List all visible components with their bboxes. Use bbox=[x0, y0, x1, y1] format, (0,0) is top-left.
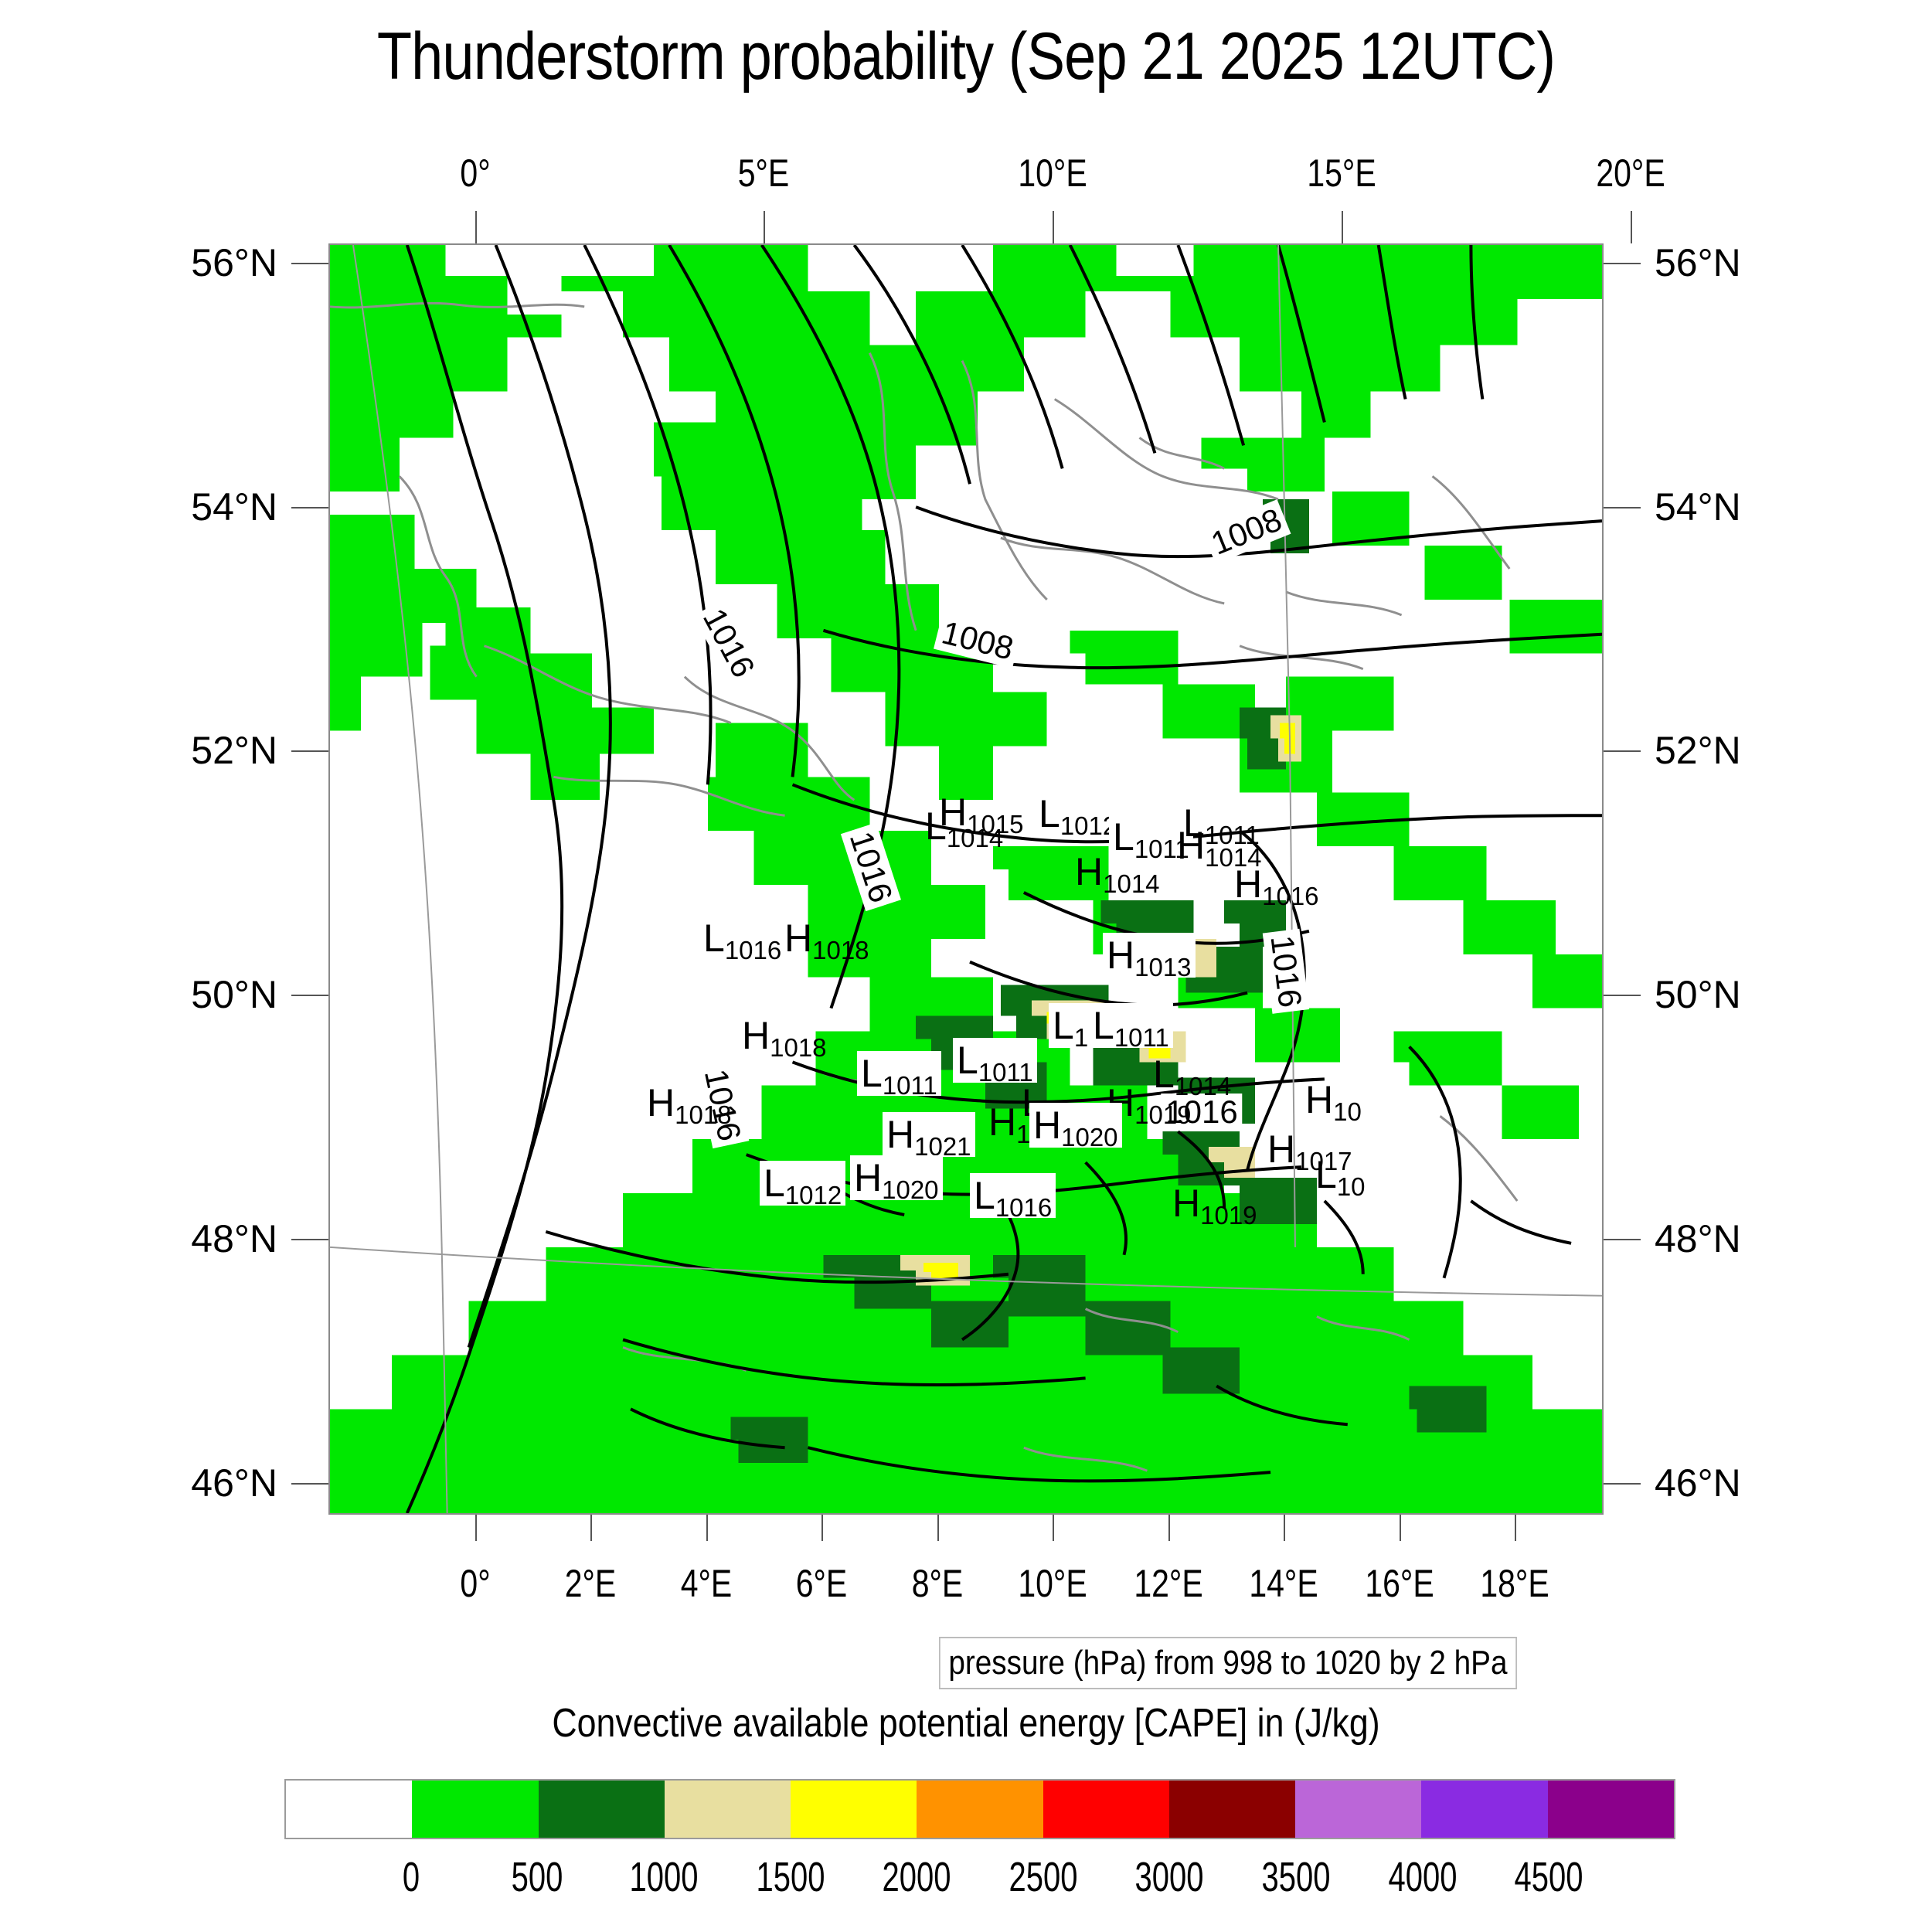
pressure-centre-value: 1020 bbox=[1061, 1123, 1117, 1151]
pressure-centre-value: 1020 bbox=[882, 1175, 938, 1204]
map-plot-area[interactable]: 1016 1008 1008 1016 1016 1016 1016 L1014… bbox=[328, 243, 1604, 1515]
pressure-centre-type: H bbox=[784, 917, 812, 960]
colorbar-segment-5[interactable] bbox=[917, 1781, 1043, 1838]
pressure-centre-l-1012: L1012 bbox=[1035, 791, 1121, 836]
axis-tick-right-4 bbox=[1604, 1239, 1641, 1240]
colorbar-segment-10[interactable] bbox=[1548, 1781, 1674, 1838]
axis-tick-bottom-0 bbox=[475, 1515, 477, 1541]
pressure-centre-l-10: L10 bbox=[1315, 1155, 1366, 1194]
pressure-centre-value: 1011 bbox=[883, 1071, 937, 1100]
pressure-centre-h-1015: H1015 bbox=[939, 793, 1024, 832]
axis-tick-bottom-4 bbox=[937, 1515, 939, 1541]
axis-tick-bottom-7 bbox=[1284, 1515, 1285, 1541]
pressure-centre-type: L bbox=[1093, 1004, 1114, 1047]
pressure-centre-h-10: H10 bbox=[1305, 1080, 1362, 1119]
pressure-centre-type: L bbox=[1315, 1153, 1337, 1196]
axis-label-top-1: 5°E bbox=[738, 151, 790, 196]
axis-label-left-0: 56°N bbox=[191, 240, 277, 285]
axis-tick-top-0 bbox=[475, 211, 477, 243]
axis-label-right-3: 50°N bbox=[1655, 972, 1741, 1017]
pressure-centre-value: 1015 bbox=[967, 810, 1023, 838]
pressure-centre-type: H bbox=[1033, 1104, 1061, 1147]
axis-tick-right-0 bbox=[1604, 263, 1641, 264]
colorbar-tick-4500: 4500 bbox=[1515, 1853, 1583, 1901]
colorbar-segment-3[interactable] bbox=[665, 1781, 791, 1838]
pressure-centre-value: 1012 bbox=[785, 1181, 842, 1209]
pressure-centre-type: H bbox=[1107, 934, 1134, 977]
axis-label-bottom-0: 0° bbox=[460, 1561, 490, 1606]
pressure-centre-h-1021: H1021 bbox=[883, 1112, 975, 1157]
pressure-centre-l-1011: L1011 bbox=[857, 1051, 941, 1096]
cape-colorbar[interactable] bbox=[284, 1779, 1675, 1839]
axis-label-bottom-2: 4°E bbox=[680, 1561, 732, 1606]
pressure-centre-l-1016: L1016 bbox=[699, 916, 785, 961]
axis-label-right-0: 56°N bbox=[1655, 240, 1741, 285]
pressure-centre-type: H bbox=[1305, 1078, 1333, 1121]
axis-label-bottom-1: 2°E bbox=[565, 1561, 617, 1606]
pressure-centre-value: 1018 bbox=[675, 1100, 731, 1129]
axis-label-left-5: 46°N bbox=[191, 1461, 277, 1505]
axis-tick-bottom-2 bbox=[706, 1515, 708, 1541]
pressure-centre-h-1018: H1018 bbox=[742, 1016, 827, 1055]
pressure-centre-type: L bbox=[764, 1162, 785, 1205]
pressure-centre-h-1013: H1013 bbox=[1103, 933, 1196, 978]
colorbar-segment-0[interactable] bbox=[286, 1781, 412, 1838]
axis-tick-bottom-6 bbox=[1168, 1515, 1170, 1541]
axis-label-left-2: 52°N bbox=[191, 728, 277, 773]
isobar-contours bbox=[330, 245, 1602, 1513]
pressure-centre-h-1014: H1014 bbox=[1075, 852, 1160, 891]
pressure-centre-type: H bbox=[742, 1014, 770, 1057]
colorbar-tick-2000: 2000 bbox=[883, 1853, 951, 1901]
colorbar-segment-7[interactable] bbox=[1169, 1781, 1295, 1838]
axis-tick-left-4 bbox=[291, 1239, 328, 1240]
colorbar-tick-1500: 1500 bbox=[756, 1853, 825, 1901]
pressure-centre-h-1018: H1018 bbox=[647, 1083, 732, 1122]
pressure-centre-h-1020: H1020 bbox=[850, 1155, 943, 1200]
pressure-caption: pressure (hPa) from 998 to 1020 by 2 hPa bbox=[939, 1637, 1517, 1689]
pressure-centre-h-1019: H1019 bbox=[1172, 1184, 1257, 1223]
axis-label-bottom-5: 10°E bbox=[1019, 1561, 1087, 1606]
pressure-centre-type: H bbox=[854, 1156, 882, 1199]
pressure-centre-type: H bbox=[1267, 1128, 1295, 1171]
axis-label-right-5: 46°N bbox=[1655, 1461, 1741, 1505]
pressure-centre-value: 1014 bbox=[1103, 869, 1159, 898]
pressure-centre-type: L bbox=[1053, 1004, 1074, 1047]
axis-tick-bottom-3 bbox=[821, 1515, 823, 1541]
pressure-centre-h-1014: H1014 bbox=[1177, 826, 1262, 865]
axis-tick-left-3 bbox=[291, 995, 328, 996]
pressure-centre-type: H bbox=[939, 791, 967, 834]
axis-tick-bottom-9 bbox=[1515, 1515, 1516, 1541]
axis-label-left-1: 54°N bbox=[191, 485, 277, 529]
pressure-centre-value: 1016 bbox=[725, 936, 781, 964]
pressure-centre-type: L bbox=[974, 1174, 995, 1217]
pressure-centre-l-1016: L1016 bbox=[970, 1173, 1056, 1218]
pressure-centre-type: L bbox=[703, 917, 725, 960]
pressure-centre-l-1011: L1011 bbox=[953, 1038, 1037, 1083]
axis-tick-left-0 bbox=[291, 263, 328, 264]
colorbar-segment-8[interactable] bbox=[1295, 1781, 1421, 1838]
axis-label-left-3: 50°N bbox=[191, 972, 277, 1017]
axis-label-top-3: 15°E bbox=[1307, 151, 1376, 196]
colorbar-tick-4000: 4000 bbox=[1388, 1853, 1457, 1901]
colorbar-title: Convective available potential energy [C… bbox=[135, 1700, 1797, 1747]
pressure-centre-type: H bbox=[886, 1113, 914, 1156]
colorbar-tick-3000: 3000 bbox=[1135, 1853, 1204, 1901]
colorbar-tick-0: 0 bbox=[403, 1853, 420, 1901]
axis-tick-top-4 bbox=[1631, 211, 1632, 243]
axis-label-bottom-6: 12°E bbox=[1134, 1561, 1202, 1606]
pressure-centre-type: L bbox=[957, 1039, 978, 1082]
axis-label-top-0: 0° bbox=[460, 151, 490, 196]
axis-tick-top-1 bbox=[764, 211, 765, 243]
pressure-centre-l-1011: L1011 bbox=[1089, 1003, 1173, 1048]
pressure-centre-h-1020: H1020 bbox=[1029, 1103, 1122, 1148]
axis-tick-top-3 bbox=[1342, 211, 1343, 243]
pressure-centre-type: H bbox=[647, 1081, 675, 1124]
axis-label-bottom-7: 14°E bbox=[1249, 1561, 1318, 1606]
pressure-centre-h-1018: H1018 bbox=[784, 919, 869, 957]
axis-label-right-1: 54°N bbox=[1655, 485, 1741, 529]
axis-tick-right-2 bbox=[1604, 750, 1641, 752]
pressure-centre-value: 1018 bbox=[812, 936, 869, 964]
colorbar-tick-2500: 2500 bbox=[1009, 1853, 1077, 1901]
pressure-centre-l-1012: L1012 bbox=[760, 1161, 845, 1206]
pressure-centre-value: 1013 bbox=[1134, 953, 1191, 981]
page-title: Thunderstorm probability (Sep 21 2025 12… bbox=[135, 19, 1797, 95]
colorbar-tick-500: 500 bbox=[512, 1853, 563, 1901]
axis-tick-bottom-1 bbox=[590, 1515, 592, 1541]
pressure-centre-type: H bbox=[1177, 824, 1205, 867]
axis-tick-left-5 bbox=[291, 1483, 328, 1485]
pressure-centre-type: H bbox=[1075, 850, 1103, 893]
colorbar-segment-1[interactable] bbox=[412, 1781, 538, 1838]
axis-label-right-4: 48°N bbox=[1655, 1216, 1741, 1261]
pressure-centre-type: L bbox=[1039, 792, 1060, 835]
colorbar-tick-1000: 1000 bbox=[629, 1853, 698, 1901]
colorbar-segment-4[interactable] bbox=[791, 1781, 917, 1838]
axis-label-top-2: 10°E bbox=[1019, 151, 1087, 196]
axis-tick-right-1 bbox=[1604, 507, 1641, 509]
pressure-centre-type: H bbox=[988, 1100, 1016, 1144]
pressure-centre-value: 1019 bbox=[1200, 1201, 1257, 1230]
axis-label-bottom-4: 8°E bbox=[911, 1561, 963, 1606]
axis-tick-left-1 bbox=[291, 507, 328, 509]
pressure-centre-value: 10 bbox=[1337, 1172, 1366, 1201]
axis-tick-bottom-5 bbox=[1053, 1515, 1054, 1541]
axis-label-bottom-3: 6°E bbox=[796, 1561, 848, 1606]
axis-label-top-4: 20°E bbox=[1596, 151, 1665, 196]
pressure-centre-value: 1016 bbox=[995, 1193, 1052, 1222]
pressure-centre-value: 10 bbox=[1333, 1097, 1362, 1126]
axis-label-right-2: 52°N bbox=[1655, 728, 1741, 773]
colorbar-segment-6[interactable] bbox=[1043, 1781, 1169, 1838]
colorbar-segment-2[interactable] bbox=[539, 1781, 665, 1838]
axis-tick-top-2 bbox=[1053, 211, 1054, 243]
axis-tick-right-5 bbox=[1604, 1483, 1641, 1485]
colorbar-tick-3500: 3500 bbox=[1262, 1853, 1331, 1901]
axis-label-left-4: 48°N bbox=[191, 1216, 277, 1261]
colorbar-segment-9[interactable] bbox=[1421, 1781, 1547, 1838]
axis-label-bottom-8: 16°E bbox=[1365, 1561, 1434, 1606]
axis-tick-bottom-8 bbox=[1400, 1515, 1401, 1541]
pressure-centre-type: H bbox=[1172, 1182, 1200, 1225]
pressure-centre-value: 1011 bbox=[1114, 1023, 1169, 1052]
pressure-centre-value: 1019 bbox=[1134, 1100, 1191, 1129]
pressure-centre-value: 1018 bbox=[770, 1033, 826, 1062]
axis-tick-right-3 bbox=[1604, 995, 1641, 996]
pressure-centre-h-1016: H1016 bbox=[1234, 865, 1319, 903]
axis-label-bottom-9: 18°E bbox=[1480, 1561, 1549, 1606]
pressure-centre-type: H bbox=[1234, 862, 1262, 906]
colorbar-tick-labels: 050010001500200025003000350040004500 bbox=[284, 1853, 1675, 1907]
pressure-centre-type: L bbox=[861, 1052, 883, 1095]
axis-tick-left-2 bbox=[291, 750, 328, 752]
pressure-centre-value: 1016 bbox=[1262, 882, 1318, 910]
